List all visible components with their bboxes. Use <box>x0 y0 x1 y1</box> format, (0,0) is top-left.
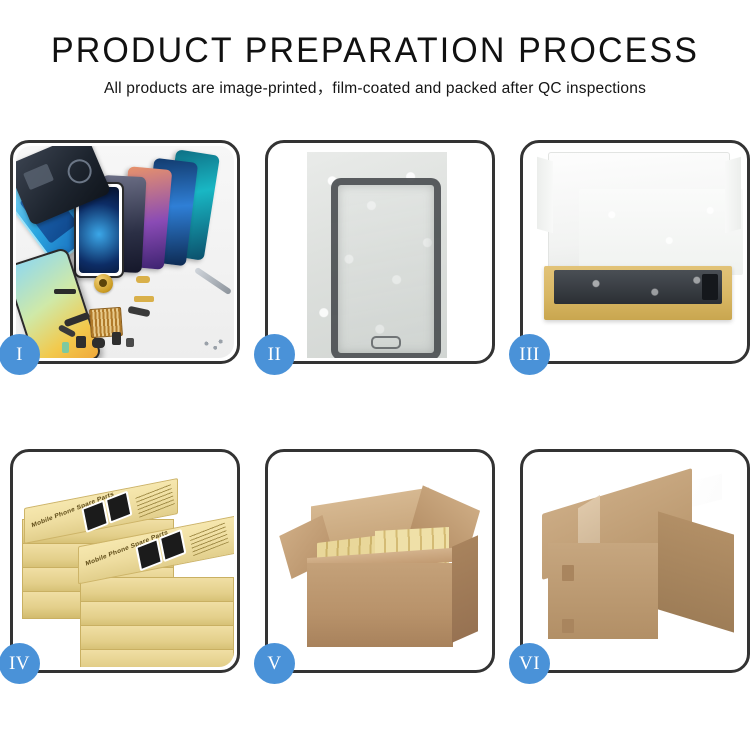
wrapped-screen-icon <box>331 178 441 358</box>
process-step-4: Mobile Phone Spare Parts Mobile Phone Sp… <box>10 449 240 673</box>
open-carton <box>289 479 479 655</box>
process-step-1: I <box>10 140 240 364</box>
carton-front-face <box>307 563 453 647</box>
carton-side-face <box>658 511 734 632</box>
step-1-photo <box>16 146 234 358</box>
kraft-box-tray-icon <box>544 266 732 320</box>
small-part-5-icon <box>126 338 134 347</box>
small-part-3-icon <box>112 332 121 345</box>
gold-flex-icon <box>134 296 154 302</box>
page-subtitle: All products are image-printed，film-coat… <box>0 79 750 99</box>
step-6-photo <box>526 455 744 667</box>
process-step-5: V <box>265 449 495 673</box>
small-part-4-icon <box>62 342 69 353</box>
box-stack: Mobile Phone Spare Parts Mobile Phone Sp… <box>22 469 234 665</box>
step-badge-3: III <box>509 334 550 375</box>
header: PRODUCT PREPARATION PROCESS All products… <box>0 30 750 99</box>
sealed-carton <box>542 491 738 645</box>
step-2-photo <box>271 146 489 358</box>
carton-handle-tab <box>562 565 574 581</box>
step-5-photo <box>271 455 489 667</box>
flex-cable-3-icon <box>128 306 151 317</box>
process-step-2: II <box>265 140 495 364</box>
speaker-part-icon <box>94 274 113 293</box>
process-step-6: VI <box>520 449 750 673</box>
step-badge-4: IV <box>0 643 40 684</box>
step-3-photo <box>526 146 744 358</box>
small-part-2-icon <box>92 338 105 348</box>
step-4-photo: Mobile Phone Spare Parts Mobile Phone Sp… <box>16 455 234 667</box>
packed-screen-icon <box>554 270 722 304</box>
process-step-grid: I II III <box>10 140 740 673</box>
carton-handle-tab <box>562 619 574 633</box>
page-title: PRODUCT PREPARATION PROCESS <box>11 30 739 72</box>
process-step-3: III <box>520 140 750 364</box>
product-preparation-infographic: PRODUCT PREPARATION PROCESS All products… <box>0 0 750 750</box>
screws-icon <box>202 338 224 352</box>
gold-connector-icon <box>136 276 150 283</box>
step-badge-1: I <box>0 334 40 375</box>
box-layer <box>80 649 234 667</box>
box-lid-icon <box>548 152 730 272</box>
part-strip-icon <box>54 289 76 294</box>
small-part-1-icon <box>76 336 86 348</box>
screwdriver-icon <box>194 267 232 295</box>
step-badge-2: II <box>254 334 295 375</box>
step-badge-6: VI <box>509 643 550 684</box>
bubble-wrap-sheet <box>307 152 447 358</box>
box-spec-lines <box>189 522 229 557</box>
foam-padding-icon <box>579 189 743 275</box>
carton-side-face <box>452 535 478 643</box>
step-badge-5: V <box>254 643 295 684</box>
box-spec-lines <box>135 483 175 518</box>
